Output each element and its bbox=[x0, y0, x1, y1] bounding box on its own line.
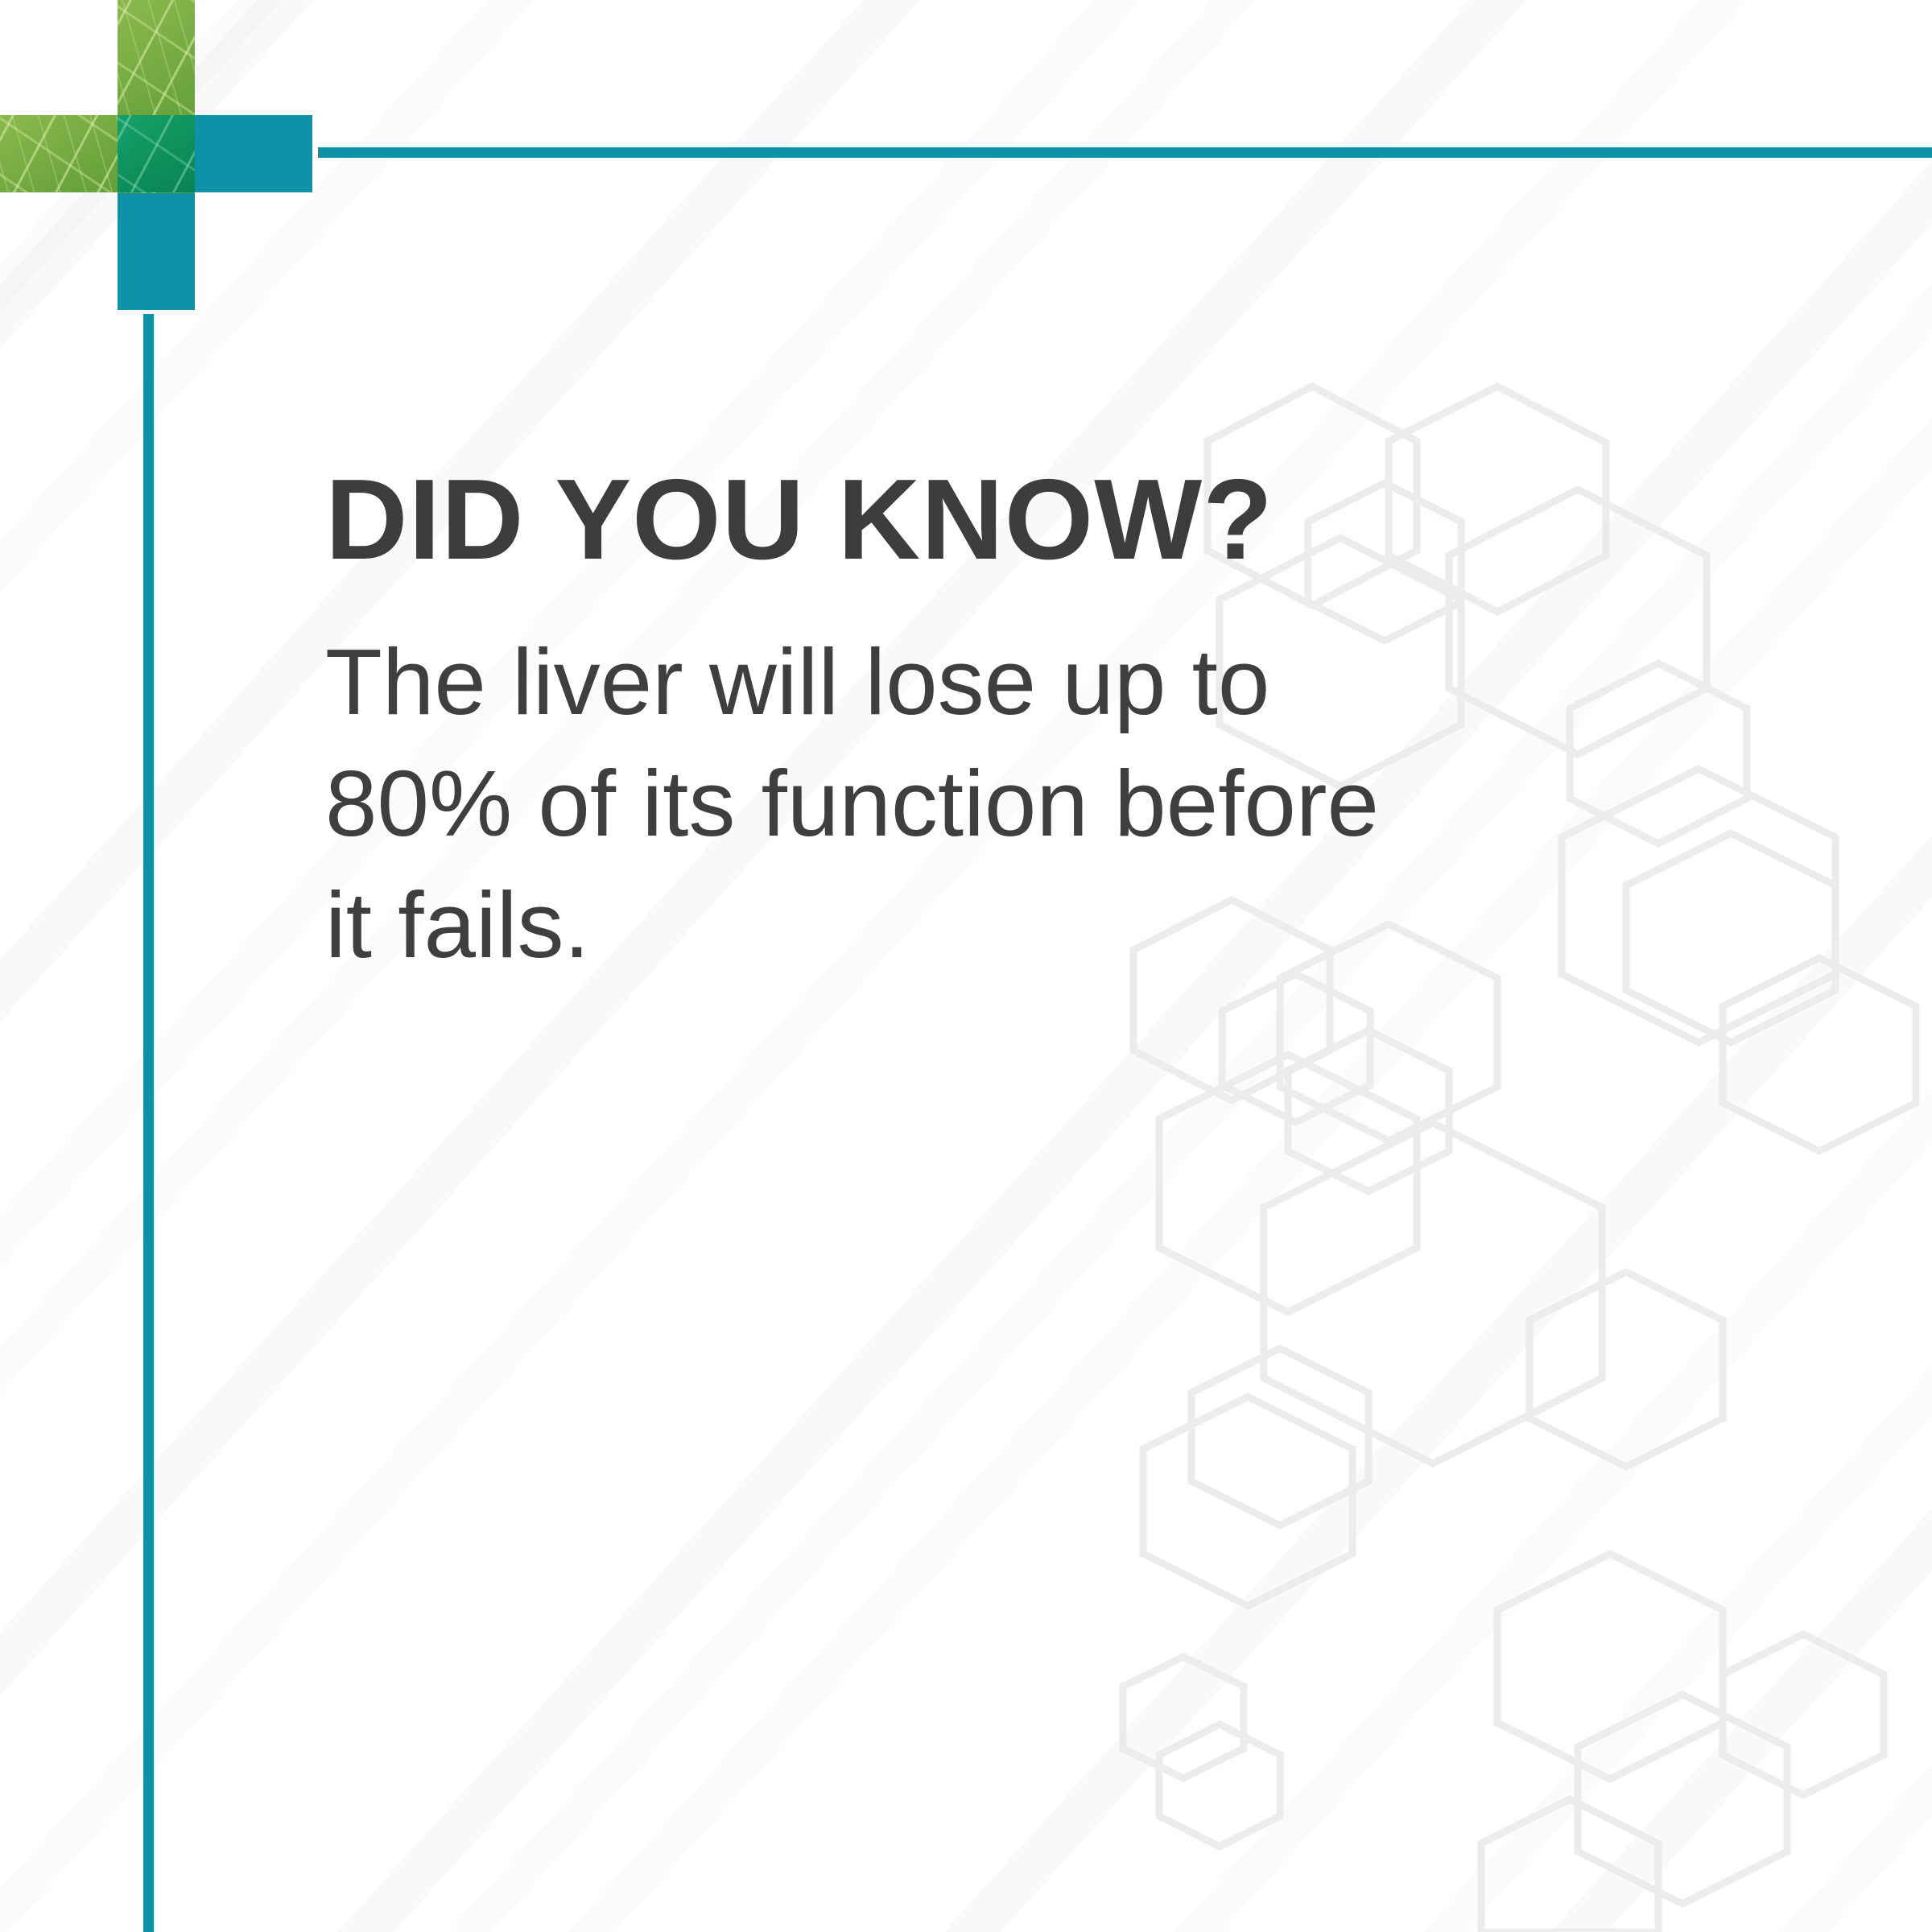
page-title: DID YOU KNOW? bbox=[325, 463, 1533, 577]
fact-body-text: The liver will lose up to 80% of its fun… bbox=[325, 621, 1404, 985]
leaf-plus-logo bbox=[0, 0, 322, 322]
teal-horizontal-rule bbox=[318, 147, 1932, 158]
teal-vertical-rule bbox=[143, 314, 154, 1932]
logo-leaf-teal-overlap bbox=[118, 115, 195, 192]
infographic-card: DID YOU KNOW? The liver will lose up to … bbox=[0, 0, 1932, 1932]
text-block: DID YOU KNOW? The liver will lose up to … bbox=[325, 463, 1533, 985]
